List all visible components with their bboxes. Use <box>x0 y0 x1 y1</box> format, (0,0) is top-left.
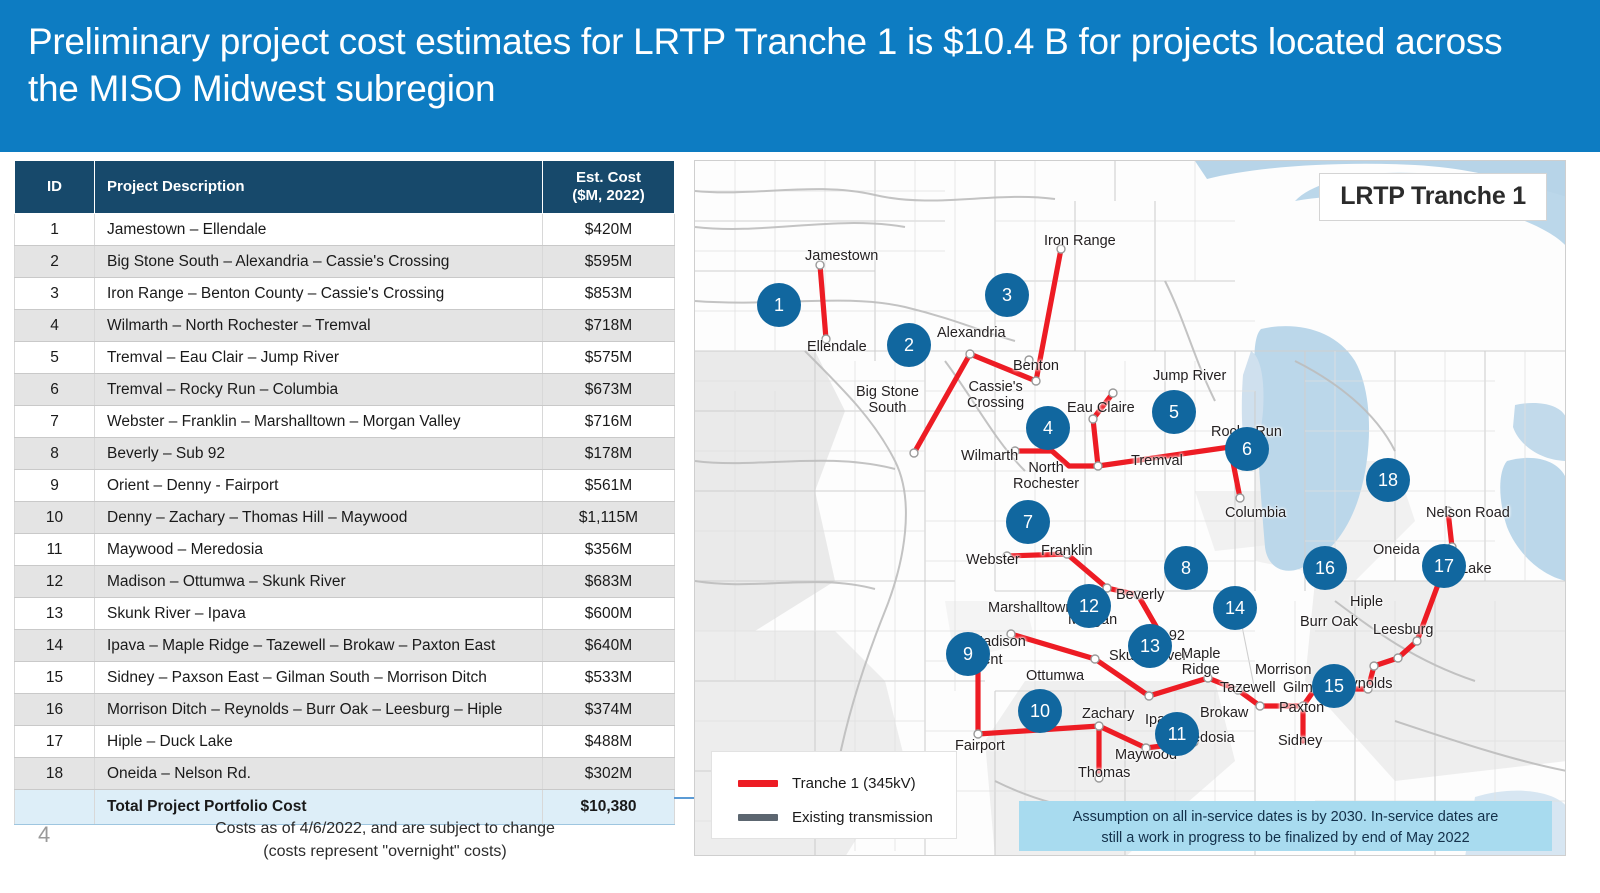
project-cost-table: ID Project Description Est. Cost ($M, 20… <box>14 160 675 825</box>
map-label-line: Fairport <box>955 739 1005 755</box>
map-label-iron-range: Iron Range <box>1044 234 1116 250</box>
map-marker-2[interactable]: 2 <box>887 323 931 367</box>
map-label-line: Iron Range <box>1044 234 1116 250</box>
assumption-note-line2: still a work in progress to be finalized… <box>1029 828 1542 849</box>
map-label-paxton: Paxton <box>1279 701 1324 717</box>
slide-root: Preliminary project cost estimates for L… <box>0 0 1600 893</box>
table-row: 14Ipava – Maple Ridge – Tazewell – Broka… <box>15 630 675 662</box>
table-body: 1Jamestown – Ellendale$420M2Big Stone So… <box>15 214 675 825</box>
cell-description: Jamestown – Ellendale <box>95 214 543 246</box>
table-row: 8Beverly – Sub 92$178M <box>15 438 675 470</box>
map-marker-18[interactable]: 18 <box>1366 458 1410 502</box>
cell-cost: $302M <box>543 758 675 790</box>
legend-item-existing: Existing transmission <box>712 800 956 834</box>
map-label-line: Tremval <box>1131 454 1183 470</box>
map-marker-6[interactable]: 6 <box>1225 427 1269 471</box>
table-row: 3Iron Range – Benton County – Cassie's C… <box>15 278 675 310</box>
map-label-line: Hiple <box>1350 595 1383 611</box>
cell-cost: $673M <box>543 374 675 406</box>
cell-id: 3 <box>15 278 95 310</box>
map-label-brokaw: Brokaw <box>1200 706 1248 722</box>
map-label-line: Jamestown <box>805 249 878 265</box>
map-label-marshalltown: Marshalltown <box>988 601 1073 617</box>
map-label-north-rochester: NorthRochester <box>1013 460 1079 492</box>
map-label-fairport: Fairport <box>955 739 1005 755</box>
table-row: 16Morrison Ditch – Reynolds – Burr Oak –… <box>15 694 675 726</box>
cell-description: Maywood – Meredosia <box>95 534 543 566</box>
table-row: 2Big Stone South – Alexandria – Cassie's… <box>15 246 675 278</box>
map-label-line: Marshalltown <box>988 601 1073 617</box>
map-label-line: Ridge <box>1181 662 1221 678</box>
map-label-line: Eau Claire <box>1067 401 1135 417</box>
cell-description: Hiple – Duck Lake <box>95 726 543 758</box>
cell-description: Ipava – Maple Ridge – Tazewell – Brokaw … <box>95 630 543 662</box>
legend-swatch-grey-line-icon <box>738 814 778 821</box>
cell-description: Skunk River – Ipava <box>95 598 543 630</box>
cell-description: Beverly – Sub 92 <box>95 438 543 470</box>
assumption-note: Assumption on all in-service dates is by… <box>1019 801 1552 851</box>
map-label-beverly: Beverly <box>1116 588 1164 604</box>
map-marker-1[interactable]: 1 <box>757 283 801 327</box>
map-label-line: Benton <box>1013 359 1059 375</box>
total-empty-cell <box>15 790 95 825</box>
map-label-line: Thomas <box>1078 766 1130 782</box>
map-label-tremval: Tremval <box>1131 454 1183 470</box>
cell-cost: $716M <box>543 406 675 438</box>
cell-description: Madison – Ottumwa – Skunk River <box>95 566 543 598</box>
map-label-line: Burr Oak <box>1300 615 1358 631</box>
map-label-line: Ottumwa <box>1026 669 1084 685</box>
table-row: 4Wilmarth – North Rochester – Tremval$71… <box>15 310 675 342</box>
assumption-note-line1: Assumption on all in-service dates is by… <box>1029 807 1542 828</box>
column-header-cost: Est. Cost ($M, 2022) <box>543 161 675 214</box>
map-marker-11[interactable]: 11 <box>1155 712 1199 756</box>
map-label-line: Oneida <box>1373 543 1420 559</box>
table-row: 13Skunk River – Ipava$600M <box>15 598 675 630</box>
map-label-line: Paxton <box>1279 701 1324 717</box>
table-row: 5Tremval – Eau Clair – Jump River$575M <box>15 342 675 374</box>
legend-label-tranche1: Tranche 1 (345kV) <box>792 775 916 792</box>
map-label-oneida: Oneida <box>1373 543 1420 559</box>
column-header-cost-line2: ($M, 2022) <box>549 187 668 205</box>
map-marker-13[interactable]: 13 <box>1128 624 1172 668</box>
map-label-line: Alexandria <box>937 326 1006 342</box>
cell-id: 18 <box>15 758 95 790</box>
map-marker-10[interactable]: 10 <box>1018 689 1062 733</box>
map-label-tazewell: Tazewell <box>1220 681 1276 697</box>
cell-description: Webster – Franklin – Marshalltown – Morg… <box>95 406 543 438</box>
cell-description: Morrison Ditch – Reynolds – Burr Oak – L… <box>95 694 543 726</box>
map-label-franklin: Franklin <box>1041 544 1093 560</box>
cell-id: 1 <box>15 214 95 246</box>
map-marker-4[interactable]: 4 <box>1026 406 1070 450</box>
map-label-line: Leesburg <box>1373 623 1433 639</box>
cell-id: 4 <box>15 310 95 342</box>
map-label-line: Wilmarth <box>961 449 1018 465</box>
table-row: 17Hiple – Duck Lake$488M <box>15 726 675 758</box>
cell-cost: $1,115M <box>543 502 675 534</box>
table-row: 6Tremval – Rocky Run – Columbia$673M <box>15 374 675 406</box>
map-label-line: South <box>856 400 919 416</box>
cell-id: 5 <box>15 342 95 374</box>
map-marker-17[interactable]: 17 <box>1422 544 1466 588</box>
table-header-row: ID Project Description Est. Cost ($M, 20… <box>15 161 675 214</box>
cell-cost: $561M <box>543 470 675 502</box>
cell-cost: $533M <box>543 662 675 694</box>
map-label-ottumwa: Ottumwa <box>1026 669 1084 685</box>
table-row: 15Sidney – Paxson East – Gilman South – … <box>15 662 675 694</box>
map-marker-8[interactable]: 8 <box>1164 546 1208 590</box>
map-label-columbia: Columbia <box>1225 506 1286 522</box>
legend-swatch-red-line-icon <box>738 780 778 787</box>
cell-cost: $600M <box>543 598 675 630</box>
cell-id: 6 <box>15 374 95 406</box>
map-label-line: Webster <box>966 553 1020 569</box>
map-label-line: Brokaw <box>1200 706 1248 722</box>
cost-footnote-line2: (costs represent "overnight" costs) <box>120 841 650 864</box>
map-label-jump-river: Jump River <box>1153 369 1226 385</box>
cell-cost: $374M <box>543 694 675 726</box>
cell-cost: $718M <box>543 310 675 342</box>
cell-cost: $683M <box>543 566 675 598</box>
table-row: 1Jamestown – Ellendale$420M <box>15 214 675 246</box>
cell-id: 12 <box>15 566 95 598</box>
table-row: 9Orient – Denny - Fairport$561M <box>15 470 675 502</box>
cell-description: Big Stone South – Alexandria – Cassie's … <box>95 246 543 278</box>
cell-id: 13 <box>15 598 95 630</box>
map-label-line: Rochester <box>1013 476 1079 492</box>
legend-label-existing: Existing transmission <box>792 809 933 826</box>
cell-cost: $595M <box>543 246 675 278</box>
map-label-line: Cassie's <box>967 379 1024 395</box>
map-label-line: Crossing <box>967 395 1024 411</box>
cell-description: Iron Range – Benton County – Cassie's Cr… <box>95 278 543 310</box>
map-label-line: Morrison <box>1255 663 1311 679</box>
cell-cost: $488M <box>543 726 675 758</box>
map-label-leesburg: Leesburg <box>1373 623 1433 639</box>
map-marker-12[interactable]: 12 <box>1067 584 1111 628</box>
table-row: 10Denny – Zachary – Thomas Hill – Maywoo… <box>15 502 675 534</box>
cell-id: 16 <box>15 694 95 726</box>
map-legend: Tranche 1 (345kV) Existing transmission <box>711 751 957 839</box>
map-label-line: Tazewell <box>1220 681 1276 697</box>
map-label-sidney: Sidney <box>1278 734 1322 750</box>
map-label-jamestown: Jamestown <box>805 249 878 265</box>
map-label-line: Beverly <box>1116 588 1164 604</box>
cell-description: Wilmarth – North Rochester – Tremval <box>95 310 543 342</box>
page-number: 4 <box>38 822 50 848</box>
map-label-line: Jump River <box>1153 369 1226 385</box>
cell-id: 11 <box>15 534 95 566</box>
map-label-line: Maple <box>1181 646 1221 662</box>
cell-cost: $853M <box>543 278 675 310</box>
table-row: 12Madison – Ottumwa – Skunk River$683M <box>15 566 675 598</box>
table-row: 18Oneida – Nelson Rd.$302M <box>15 758 675 790</box>
cell-id: 10 <box>15 502 95 534</box>
cell-id: 9 <box>15 470 95 502</box>
cell-id: 15 <box>15 662 95 694</box>
cell-cost: $178M <box>543 438 675 470</box>
map-label-big-stone-south: Big StoneSouth <box>856 384 919 416</box>
legend-item-tranche1: Tranche 1 (345kV) <box>712 766 956 800</box>
cell-description: Denny – Zachary – Thomas Hill – Maywood <box>95 502 543 534</box>
cell-id: 2 <box>15 246 95 278</box>
cell-cost: $640M <box>543 630 675 662</box>
map-marker-16[interactable]: 16 <box>1303 546 1347 590</box>
cell-id: 17 <box>15 726 95 758</box>
map-marker-3[interactable]: 3 <box>985 273 1029 317</box>
map-label-zachary: Zachary <box>1082 707 1134 723</box>
transmission-project-map[interactable]: LRTP Tranche 1 JamestownIron RangeEllend… <box>694 160 1566 856</box>
cell-cost: $420M <box>543 214 675 246</box>
cell-description: Orient – Denny - Fairport <box>95 470 543 502</box>
cell-id: 7 <box>15 406 95 438</box>
map-label-line: Zachary <box>1082 707 1134 723</box>
map-label-burr-oak: Burr Oak <box>1300 615 1358 631</box>
cell-id: 14 <box>15 630 95 662</box>
cell-description: Sidney – Paxson East – Gilman South – Mo… <box>95 662 543 694</box>
page-title: Preliminary project cost estimates for L… <box>28 18 1528 113</box>
map-marker-5[interactable]: 5 <box>1152 390 1196 434</box>
map-marker-14[interactable]: 14 <box>1213 586 1257 630</box>
cell-cost: $575M <box>543 342 675 374</box>
map-label-thomas: Thomas <box>1078 766 1130 782</box>
map-label-line: Ellendale <box>807 340 867 356</box>
slide-header-banner: Preliminary project cost estimates for L… <box>0 0 1600 152</box>
map-label-line: Franklin <box>1041 544 1093 560</box>
map-title: LRTP Tranche 1 <box>1319 173 1547 221</box>
map-label-line: North <box>1013 460 1079 476</box>
table-row: 7Webster – Franklin – Marshalltown – Mor… <box>15 406 675 438</box>
cost-footnote-line1: Costs as of 4/6/2022, and are subject to… <box>120 818 650 841</box>
column-header-id: ID <box>15 161 95 214</box>
column-header-description: Project Description <box>95 161 543 214</box>
map-marker-7[interactable]: 7 <box>1006 500 1050 544</box>
cell-description: Tremval – Eau Clair – Jump River <box>95 342 543 374</box>
map-label-line: Columbia <box>1225 506 1286 522</box>
cost-footnote: Costs as of 4/6/2022, and are subject to… <box>120 818 650 863</box>
cell-description: Oneida – Nelson Rd. <box>95 758 543 790</box>
map-marker-9[interactable]: 9 <box>946 632 990 676</box>
map-label-eau-claire: Eau Claire <box>1067 401 1135 417</box>
map-label-ellendale: Ellendale <box>807 340 867 356</box>
cell-id: 8 <box>15 438 95 470</box>
cell-cost: $356M <box>543 534 675 566</box>
map-label-hiple: Hiple <box>1350 595 1383 611</box>
column-header-cost-line1: Est. Cost <box>549 169 668 187</box>
map-label-line: Sidney <box>1278 734 1322 750</box>
map-label-benton: Benton <box>1013 359 1059 375</box>
table-row: 11Maywood – Meredosia$356M <box>15 534 675 566</box>
map-label-alexandria: Alexandria <box>937 326 1006 342</box>
map-label-cassie-s-crossing: Cassie'sCrossing <box>967 379 1024 411</box>
map-label-maple-ridge: MapleRidge <box>1181 646 1221 678</box>
map-label-wilmarth: Wilmarth <box>961 449 1018 465</box>
cell-description: Tremval – Rocky Run – Columbia <box>95 374 543 406</box>
map-label-morrison: Morrison <box>1255 663 1311 679</box>
map-label-line: Big Stone <box>856 384 919 400</box>
map-marker-15[interactable]: 15 <box>1312 664 1356 708</box>
project-cost-table-wrapper: ID Project Description Est. Cost ($M, 20… <box>14 160 674 825</box>
map-label-webster: Webster <box>966 553 1020 569</box>
map-label-line: Nelson Road <box>1426 506 1510 522</box>
map-label-nelson-road: Nelson Road <box>1426 506 1510 522</box>
